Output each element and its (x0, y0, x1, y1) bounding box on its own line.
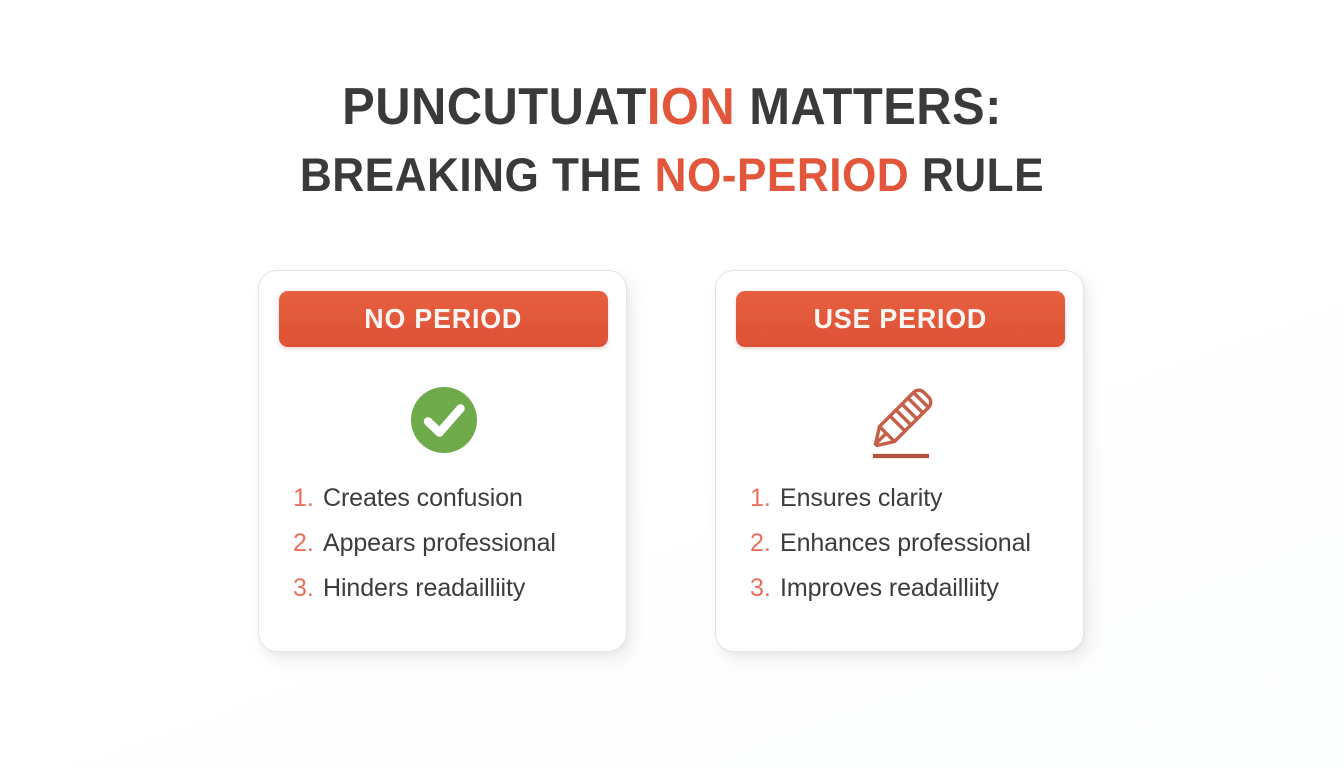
list-item: 1. Ensures clarity (750, 484, 1070, 513)
badge-use-period[interactable]: USE PERIOD (736, 291, 1065, 347)
title-line2-suffix: RULE (909, 148, 1044, 201)
card-no-period-list: 1. Creates confusion 2. Appears professi… (293, 484, 613, 603)
list-item-number: 3. (293, 574, 323, 603)
title-line-1: PUNCUTUATION MATTERS: (40, 78, 1303, 136)
list-item: 3. Improves readailliity (750, 574, 1070, 603)
infographic-canvas: PUNCUTUATION MATTERS: BREAKING THE NO-PE… (0, 0, 1344, 768)
title-line1-prefix: PUNCUTUAT (342, 78, 647, 136)
card-use-period: USE PERIOD (715, 270, 1084, 652)
badge-no-period[interactable]: NO PERIOD (279, 291, 608, 347)
list-item-number: 3. (750, 574, 780, 603)
list-item-label: Creates confusion (323, 484, 523, 513)
badge-no-period-label: NO PERIOD (365, 303, 523, 335)
list-item: 3. Hinders readailliity (293, 574, 613, 603)
list-item: 2. Appears professional (293, 529, 613, 558)
list-item-number: 1. (750, 484, 780, 513)
list-item-number: 2. (293, 529, 323, 558)
list-item-number: 2. (750, 529, 780, 558)
card-use-period-icon-area (716, 374, 1085, 470)
check-circle-icon (409, 385, 479, 460)
card-no-period: NO PERIOD 1. Creates confusion 2. Appear… (258, 270, 627, 652)
card-use-period-list: 1. Ensures clarity 2. Enhances professio… (750, 484, 1070, 603)
list-item: 2. Enhances professional (750, 529, 1070, 558)
list-item-label: Enhances professional (780, 529, 1031, 558)
title-line-2: BREAKING THE NO-PERIOD RULE (40, 147, 1303, 203)
list-item-label: Appears professional (323, 529, 556, 558)
title-line1-accent: ION (647, 78, 735, 136)
title-line2-accent: NO-PERIOD (655, 148, 910, 201)
list-item-label: Hinders readailliity (323, 574, 525, 603)
pencil-icon (855, 374, 947, 471)
title-line2-prefix: BREAKING THE (300, 148, 655, 201)
list-item-label: Ensures clarity (780, 484, 942, 513)
list-item-number: 1. (293, 484, 323, 513)
page-title: PUNCUTUATION MATTERS: BREAKING THE NO-PE… (0, 78, 1344, 204)
list-item-label: Improves readailliity (780, 574, 999, 603)
card-no-period-icon-area (259, 374, 628, 470)
badge-use-period-label: USE PERIOD (814, 303, 987, 335)
title-line1-suffix: MATTERS: (735, 78, 1002, 136)
list-item: 1. Creates confusion (293, 484, 613, 513)
